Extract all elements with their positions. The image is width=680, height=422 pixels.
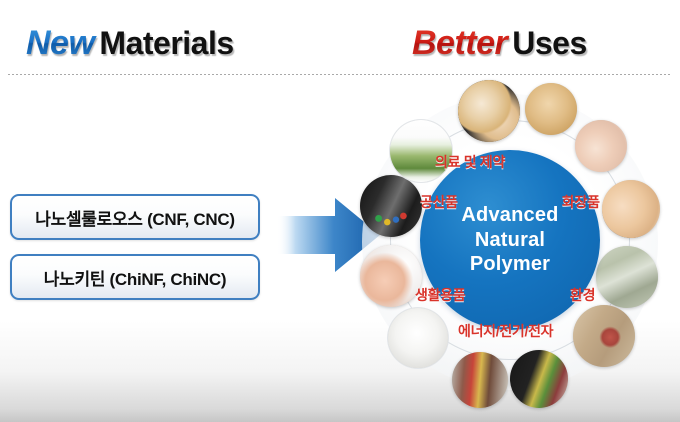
hub-line-2: Natural xyxy=(475,228,545,252)
ring-label-energy-electric-electronics: 에너지/전기/전자 xyxy=(458,321,553,341)
page-title-left: NewMaterials xyxy=(26,24,234,63)
photo-tissue-box xyxy=(388,308,448,368)
slide-canvas: NewMaterials BetterUses 나노셀룰로오스 (CNF, CN… xyxy=(0,0,680,422)
dotted-divider xyxy=(8,74,672,76)
photo-fiber-microscope xyxy=(573,305,635,367)
ring-label-medical-pharma: 의료 및 제약 xyxy=(435,152,505,172)
page-title-right: BetterUses xyxy=(412,24,587,63)
hub-line-3: Polymer xyxy=(470,252,550,276)
material-box-nanochitin[interactable]: 나노키틴 (ChiNF, ChiNC) xyxy=(10,254,260,300)
material-box-label: 나노셀룰로오스 (CNF, CNC) xyxy=(35,205,234,230)
title-accent-new: New xyxy=(26,24,99,62)
photo-hand-cast xyxy=(525,83,577,135)
ring-label-environment: 환경 xyxy=(570,285,595,305)
photo-baby-diaper xyxy=(360,245,422,307)
title-plain-uses: Uses xyxy=(512,25,587,61)
material-box-nanocellulose[interactable]: 나노셀룰로오스 (CNF, CNC) xyxy=(10,194,260,240)
material-box-label: 나노키틴 (ChiNF, ChiNC) xyxy=(44,265,226,290)
photo-facial-mask xyxy=(575,120,627,172)
title-accent-better: Better xyxy=(412,24,512,62)
photo-green-bottle xyxy=(390,120,452,182)
photo-electronics-board xyxy=(510,350,568,408)
ring-label-household-goods: 생활용품 xyxy=(415,285,465,305)
photo-packaging-film xyxy=(452,352,508,408)
photo-hand-cream xyxy=(602,180,660,238)
title-plain-materials: Materials xyxy=(99,25,233,61)
photo-dental-impression xyxy=(458,80,520,142)
hub-line-1: Advanced xyxy=(461,203,558,227)
uses-ring-diagram: Advanced Natural Polymer 의료 및 제약 화장품 환경 … xyxy=(340,80,680,422)
photo-color-capsules xyxy=(360,175,422,237)
ring-label-cosmetics: 화장품 xyxy=(562,192,600,212)
photo-filter-cartridge xyxy=(596,246,658,308)
ring-label-industrial-products: 공산품 xyxy=(420,192,458,212)
